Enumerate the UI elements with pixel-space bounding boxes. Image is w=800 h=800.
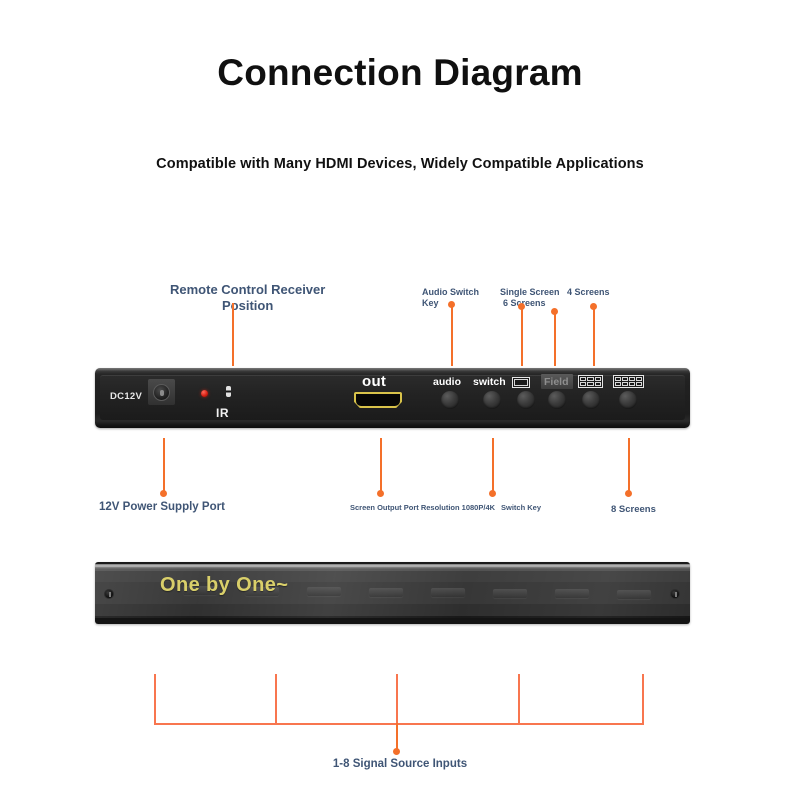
callout-four-screens: 4 Screens [567,287,610,298]
rear-input-port-5[interactable] [431,588,465,597]
callout-eight-screens: 8 Screens [611,504,656,516]
hdmi-out-label: out [362,373,386,390]
bracket-horizontal-right [497,723,644,725]
panel-top-glint [95,368,690,371]
rear-panel-screw-left [104,589,114,599]
leader-dot-eight-screens [625,490,632,497]
callout-single-screen: Single Screen [500,287,560,298]
rear-panel-watermark: One by One~ [160,574,288,597]
leader-line-eight-screens [628,438,630,491]
leader-line-remote [232,303,234,366]
bracket-tick-4 [518,674,520,723]
leader-line-six-screens [554,314,556,366]
rear-panel-screw-right [670,589,680,599]
callout-signal-source-inputs: 1-8 Signal Source Inputs [0,757,800,771]
leader-dot-screen-output [377,490,384,497]
rear-input-port-7[interactable] [555,589,589,598]
rear-input-port-6[interactable] [493,589,527,598]
ir-label: IR [216,406,229,420]
rear-input-port-4[interactable] [369,588,403,597]
power-jack-icon[interactable] [153,384,170,401]
eight-screen-button[interactable] [619,391,637,409]
leader-line-screen-output [380,438,382,491]
six-screen-icon [578,375,603,388]
bracket-tick-5 [642,674,644,723]
callout-audio-line1: Audio Switch [422,287,479,298]
leader-line-signal-inputs [396,723,398,749]
single-screen-button[interactable] [517,391,535,409]
callout-switch-key: Switch Key [501,503,541,512]
hdmi-output-port[interactable] [354,392,402,408]
ir-receiver-icon [226,386,231,397]
six-screen-button[interactable] [582,391,600,409]
page-title: Connection Diagram [0,52,800,94]
rear-input-port-8[interactable] [617,590,651,599]
single-screen-icon [512,377,530,388]
dc12v-label: DC12V [110,391,142,402]
leader-line-switch-key [492,438,494,491]
callout-remote-control-receiver: Remote Control Receiver Position [170,282,325,315]
audio-button-label: audio [433,376,461,388]
leader-line-power-port [163,438,165,491]
field-button-label: Field [544,376,569,388]
switch-button-label: switch [473,376,506,388]
rear-input-port-3[interactable] [307,587,341,596]
page-subtitle: Compatible with Many HDMI Devices, Widel… [0,156,800,172]
field-button[interactable] [548,391,566,409]
switch-button[interactable] [483,391,501,409]
leader-line-audio [451,307,453,366]
audio-button[interactable] [441,391,459,409]
leader-dot-switch-key [489,490,496,497]
power-led-indicator [201,390,208,397]
callout-screen-output-port: Screen Output Port Resolution 1080P/4K [350,503,495,512]
leader-line-four-screens [593,309,595,366]
callout-remote-line2: Position [170,298,325,314]
connection-diagram-canvas: Connection Diagram Compatible with Many … [0,0,800,800]
bracket-tick-3 [396,674,398,723]
leader-dot-signal-inputs [393,748,400,755]
bracket-tick-1 [154,674,156,723]
callout-power-supply-port: 12V Power Supply Port [99,500,225,514]
leader-line-single-screen [521,309,523,366]
callout-remote-line1: Remote Control Receiver [170,282,325,298]
leader-dot-power-port [160,490,167,497]
eight-screen-icon [613,375,644,388]
bracket-horizontal-left [154,723,497,725]
bracket-tick-2 [275,674,277,723]
